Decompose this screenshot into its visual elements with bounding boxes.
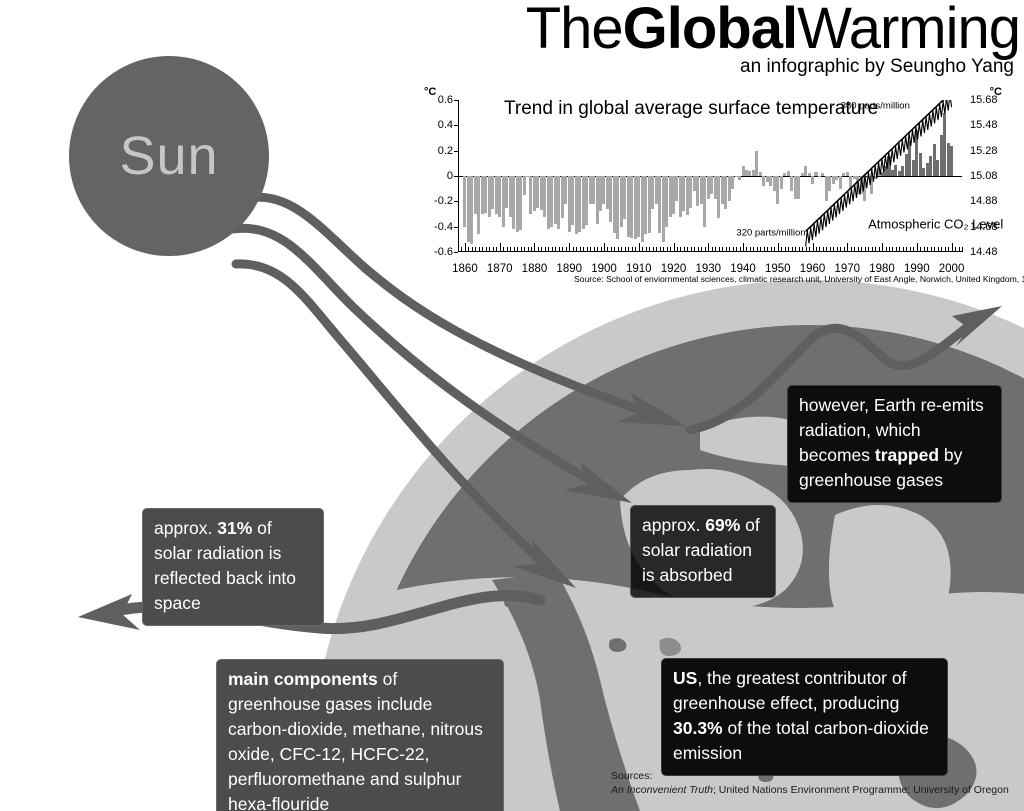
x-tick-label: 1880 [522,263,548,275]
y2-tick-label: 14.88 [970,195,998,207]
sources-note: Sources: An Inconvenient Truth; United N… [611,769,1009,797]
infographic-canvas: TheGlobalWarming an infographic by Seung… [0,0,1024,811]
title-global: Global [623,0,797,61]
title-warming: Warming [797,0,1020,61]
callout-reemitted-radiation: however, Earth re-emits radiation, which… [787,385,1002,503]
callout-us-bold1: US [673,668,697,688]
sun-circle: Sun [69,56,269,256]
annotation-320ppm: 320 parts/million [736,228,805,239]
sun-label: Sun [119,125,218,187]
callout-absorbed-69: approx. 69% of solar radiation is absorb… [630,505,776,598]
callout-31-pre: approx. [154,518,217,538]
y-tick-label: -0.6 [434,246,453,258]
y2-tick-label: 15.68 [970,94,998,106]
temperature-chart: °C °C Trend in global average surface te… [424,86,1000,286]
sources-label: Sources: [611,769,1009,783]
x-tick-label: 1860 [452,263,478,275]
chart-source-note: Source: School of enviornmental sciences… [574,274,1024,284]
y-tick-label: 0.2 [438,145,453,157]
callout-us-bold2: 30.3% [673,718,723,738]
y2-tick-label: 15.08 [970,170,998,182]
callout-reflected-31: approx. 31% of solar radiation is reflec… [142,508,324,626]
y-tick-label: 0.6 [438,94,453,106]
y2-tick-label: 15.28 [970,145,998,157]
y-tick-label: 0.4 [438,119,453,131]
callout-69-bold: 69% [705,515,740,535]
callout-us-mid: , the greatest contributor of greenhouse… [673,668,906,713]
y-tick-label: 0 [447,170,453,182]
co2-series-label: Atmospheric CO₂ Level [868,217,1003,232]
y2-tick-label: 14.48 [970,246,998,258]
callout-reemit-bold: trapped [875,445,939,465]
x-tick-label: 1870 [487,263,513,275]
title-the: The [526,0,623,61]
y-tick-mark [454,252,458,253]
callout-main-post: of greenhouse gases include carbon-dioxi… [228,669,483,811]
sources-italic: An Inconvenient Truth [611,784,713,796]
x-minor-tick [962,247,963,252]
chart-plot-area: 0.60.40.20-0.2-0.4-0.6 15.6815.4815.2815… [458,100,962,252]
landmass-greenland [829,505,951,648]
chart-left-unit: °C [424,86,436,98]
callout-31-bold: 31% [217,518,252,538]
annotation-380ppm: 380 parts/million [841,101,910,112]
callout-main-components: main components of greenhouse gases incl… [216,659,504,811]
y-tick-label: -0.4 [434,221,453,233]
y-tick-label: -0.2 [434,195,453,207]
callout-main-bold: main components [228,669,378,689]
sources-rest: ; United Nations Environment Programme; … [713,784,1009,796]
callout-us-emissions: US, the greatest contributor of greenhou… [661,658,948,776]
y2-tick-label: 15.48 [970,119,998,131]
callout-69-pre: approx. [642,515,705,535]
page-title: TheGlobalWarming an infographic by Seung… [420,0,1020,78]
